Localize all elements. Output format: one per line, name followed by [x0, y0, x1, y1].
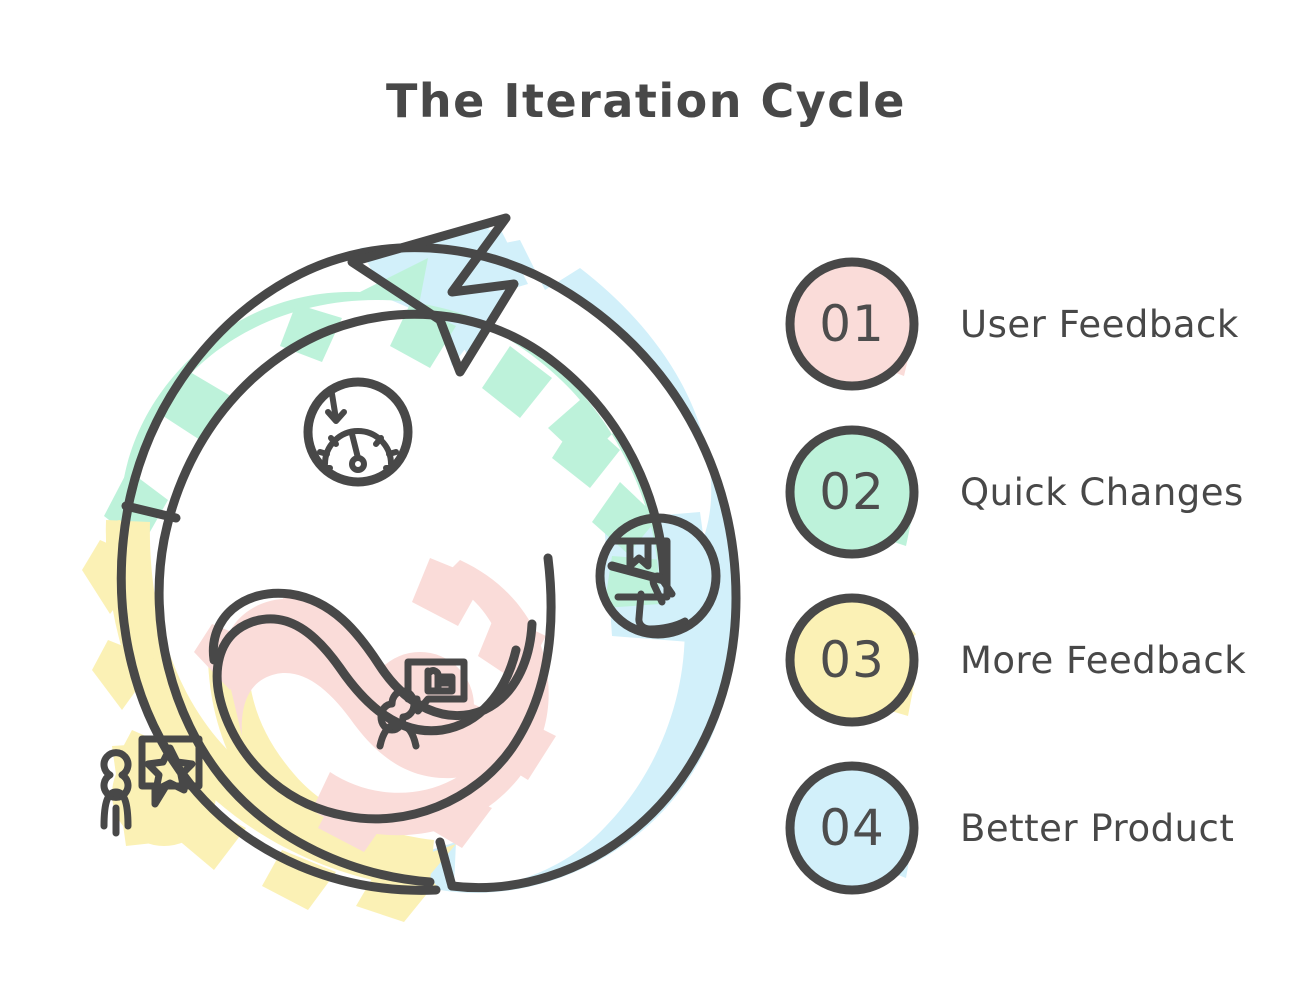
- badge-number-03: 03: [782, 590, 922, 730]
- badge-01: 01: [782, 254, 922, 394]
- legend-label-03: More Feedback: [960, 639, 1246, 682]
- legend-item-04[interactable]: 04 Better Product: [782, 744, 1282, 912]
- badge-03: 03: [782, 590, 922, 730]
- legend-item-02[interactable]: 02 Quick Changes: [782, 408, 1282, 576]
- legend-list: 01 User Feedback 02 Quick Changes 03 Mor…: [782, 240, 1282, 912]
- bubble-quick-changes: [308, 382, 408, 482]
- badge-number-01: 01: [782, 254, 922, 394]
- legend-label-02: Quick Changes: [960, 471, 1244, 514]
- badge-04: 04: [782, 758, 922, 898]
- badge-number-04: 04: [782, 758, 922, 898]
- legend-label-04: Better Product: [960, 807, 1234, 850]
- legend-item-01[interactable]: 01 User Feedback: [782, 240, 1282, 408]
- legend-label-01: User Feedback: [960, 303, 1239, 346]
- legend-item-03[interactable]: 03 More Feedback: [782, 576, 1282, 744]
- speedometer-down-arrow-icon: [320, 394, 396, 470]
- badge-number-02: 02: [782, 422, 922, 562]
- badge-02: 02: [782, 422, 922, 562]
